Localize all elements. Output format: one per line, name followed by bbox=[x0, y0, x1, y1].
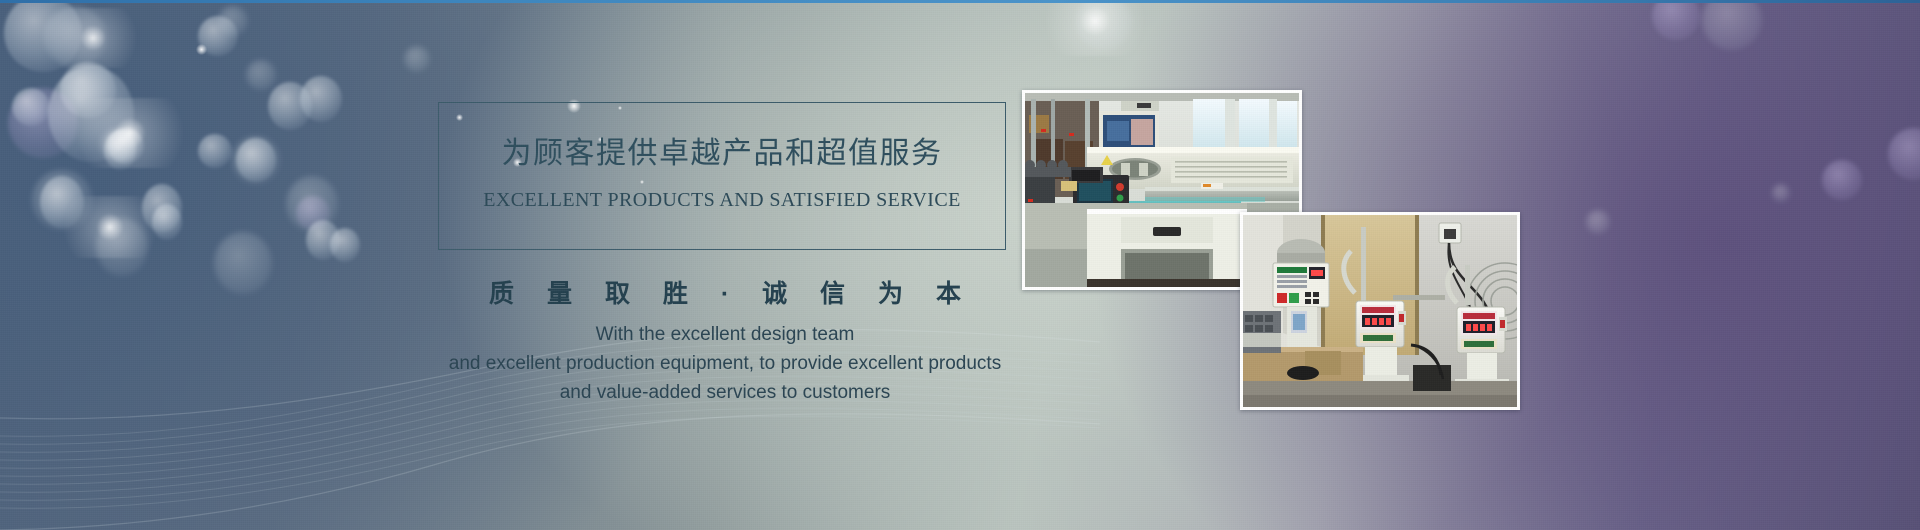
headline-english: EXCELLENT PRODUCTS AND SATISFIED SERVICE bbox=[438, 189, 1006, 212]
bokeh-circle bbox=[1076, 0, 1132, 50]
bokeh-circle bbox=[1586, 210, 1610, 234]
bokeh-circle bbox=[32, 170, 92, 230]
lens-flare bbox=[1020, 0, 1170, 56]
bokeh-circle bbox=[198, 16, 238, 56]
bokeh-circle bbox=[152, 204, 182, 240]
description-line-1: With the excellent design team bbox=[330, 320, 1120, 349]
description-paragraph: With the excellent design team and excel… bbox=[330, 320, 1120, 407]
bokeh-circle bbox=[142, 184, 182, 232]
description-line-2: and excellent production equipment, to p… bbox=[330, 349, 1120, 378]
description-line-3: and value-added services to customers bbox=[330, 378, 1120, 407]
bokeh-circle bbox=[4, 0, 82, 72]
sparkle-dot bbox=[196, 44, 207, 55]
bokeh-circle bbox=[60, 62, 116, 118]
promo-banner: 为顾客提供卓越产品和超值服务 EXCELLENT PRODUCTS AND SA… bbox=[0, 0, 1920, 530]
bokeh-circle bbox=[104, 130, 136, 170]
bokeh-circle bbox=[268, 82, 312, 130]
bokeh-circle bbox=[214, 232, 272, 294]
bokeh-circle bbox=[40, 176, 84, 228]
bokeh-circle bbox=[306, 220, 340, 260]
slogan-chinese: 质 量 取 胜 · 诚 信 为 本 bbox=[420, 274, 1030, 310]
bokeh-circle bbox=[1888, 128, 1920, 180]
bokeh-circle bbox=[1772, 184, 1790, 202]
bokeh-circle bbox=[100, 128, 134, 162]
bokeh-circle bbox=[404, 46, 430, 72]
bokeh-circle bbox=[218, 6, 248, 36]
top-accent-rule bbox=[0, 0, 1920, 3]
bokeh-circle bbox=[12, 88, 50, 126]
bokeh-circle bbox=[236, 138, 276, 182]
headline-chinese: 为顾客提供卓越产品和超值服务 bbox=[438, 128, 1006, 172]
bokeh-circle bbox=[106, 128, 140, 162]
bokeh-circle bbox=[246, 60, 276, 90]
bokeh-circle bbox=[232, 136, 280, 184]
grain-overlay bbox=[0, 0, 1920, 530]
bokeh-circle bbox=[48, 66, 134, 162]
bokeh-circle bbox=[1702, 0, 1762, 50]
bokeh-circle bbox=[286, 176, 338, 232]
headline-frame bbox=[438, 102, 1006, 250]
bokeh-circle bbox=[8, 88, 78, 158]
bokeh-circle bbox=[96, 218, 148, 276]
bokeh-circle bbox=[1822, 160, 1862, 200]
press-machines-photo[interactable] bbox=[1240, 212, 1520, 410]
lens-flare bbox=[40, 196, 180, 258]
bokeh-circle bbox=[330, 228, 360, 262]
bokeh-circle bbox=[300, 76, 342, 122]
lens-flare bbox=[28, 8, 158, 68]
bokeh-circle bbox=[198, 134, 232, 168]
lens-flare bbox=[50, 98, 210, 168]
bokeh-circle bbox=[296, 196, 330, 230]
bokeh-circle bbox=[44, 6, 106, 68]
bokeh-circle bbox=[1652, 0, 1700, 40]
bokeh-circle bbox=[108, 128, 144, 164]
